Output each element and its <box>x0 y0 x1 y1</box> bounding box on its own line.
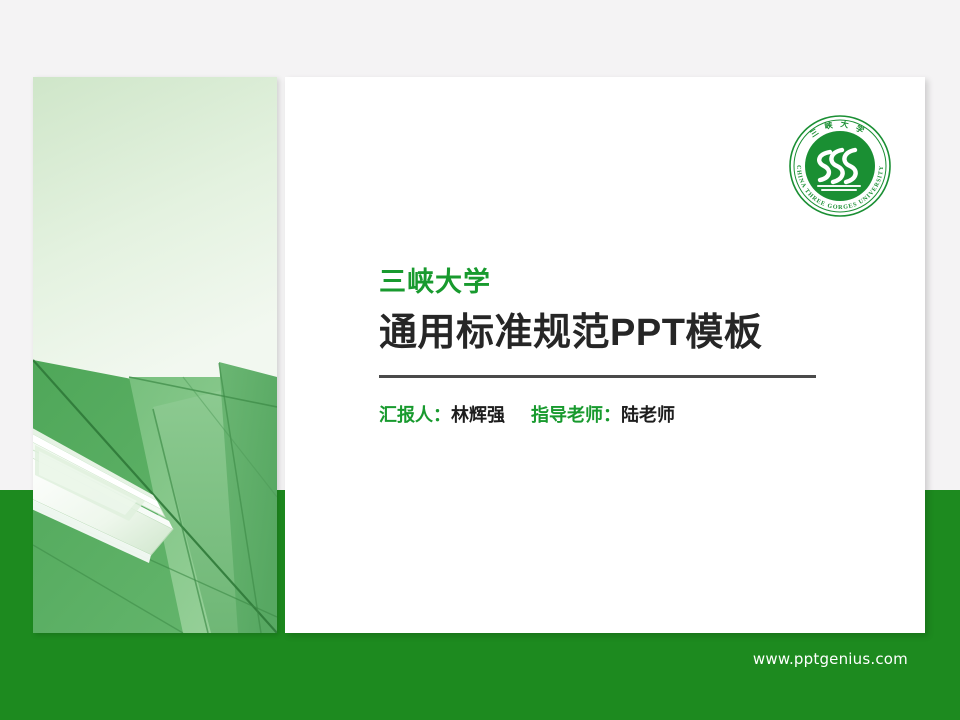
cover-photo-panel <box>33 77 277 633</box>
advisor-label: 指导老师： <box>531 405 621 425</box>
title-block: 三峡大学 通用标准规范PPT模板 汇报人：林辉强指导老师：陆老师 <box>379 268 849 427</box>
ceiling-photo-illustration <box>33 77 277 633</box>
presenter-label: 汇报人： <box>379 405 451 425</box>
presenter-name: 林辉强 <box>451 405 505 425</box>
page-title: 通用标准规范PPT模板 <box>379 312 849 356</box>
university-name: 三峡大学 <box>379 268 849 298</box>
presenter-row: 汇报人：林辉强指导老师：陆老师 <box>379 405 849 427</box>
university-logo: CHINA THREE GORGES UNIVERSITY 三峡大学 <box>784 110 896 222</box>
title-divider <box>379 375 816 378</box>
presentation-slide: CHINA THREE GORGES UNIVERSITY 三峡大学 三峡大学 … <box>0 0 960 720</box>
advisor-name: 陆老师 <box>621 405 675 425</box>
footer-website-url[interactable]: www.pptgenius.com <box>753 650 908 668</box>
china-three-gorges-university-logo-icon: CHINA THREE GORGES UNIVERSITY 三峡大学 <box>784 110 896 222</box>
